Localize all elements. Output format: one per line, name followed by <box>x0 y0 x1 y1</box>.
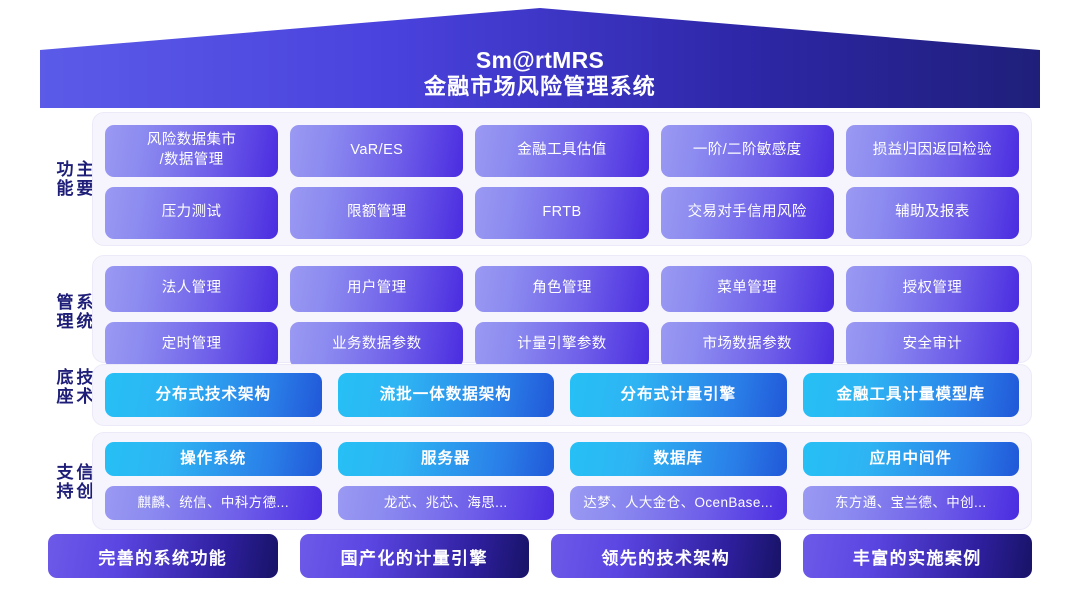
cell-counterparty-credit-risk[interactable]: 交易对手信用风险 <box>661 187 834 239</box>
panel-main-functions: 风险数据集市 /数据管理 VaR/ES 金融工具估值 一阶/二阶敏感度 损益归因… <box>92 112 1032 246</box>
cell-instrument-valuation[interactable]: 金融工具估值 <box>475 125 648 177</box>
label-main-functions-col2: 功能 <box>53 160 72 198</box>
highlight-rich-implementation-cases[interactable]: 丰富的实施案例 <box>803 534 1033 578</box>
cell-server-vendors[interactable]: 龙芯、兆芯、海思... <box>338 486 555 520</box>
cell-market-data-params[interactable]: 市场数据参数 <box>661 322 834 368</box>
cell-operating-system[interactable]: 操作系统 <box>105 442 322 476</box>
roof-banner: Sm@rtMRS 金融市场风险管理系统 <box>40 8 1040 108</box>
cell-database-vendors[interactable]: 达梦、人大金仓、OcenBase... <box>570 486 787 520</box>
cell-risk-data-mart[interactable]: 风险数据集市 /数据管理 <box>105 125 278 177</box>
cell-risk-data-mart-line2: /数据管理 <box>160 152 224 168</box>
label-tech-foundation-col1: 技术 <box>74 368 93 406</box>
grid-tech-foundation: 分布式技术架构 流批一体数据架构 分布式计量引擎 金融工具计量模型库 <box>105 373 1019 417</box>
cell-middleware-vendors[interactable]: 东方通、宝兰德、中创... <box>803 486 1020 520</box>
cell-engine-params[interactable]: 计量引擎参数 <box>475 322 648 368</box>
panel-tech-foundation: 分布式技术架构 流批一体数据架构 分布式计量引擎 金融工具计量模型库 <box>92 364 1032 426</box>
cell-var-es[interactable]: VaR/ES <box>290 125 463 177</box>
highlight-complete-system-functions[interactable]: 完善的系统功能 <box>48 534 278 578</box>
label-xinchuang-support-col2: 支持 <box>53 463 72 501</box>
cell-legal-entity-management[interactable]: 法人管理 <box>105 266 278 312</box>
cell-sensitivity[interactable]: 一阶/二阶敏感度 <box>661 125 834 177</box>
cell-authorization-management[interactable]: 授权管理 <box>846 266 1019 312</box>
bottom-highlight-bar: 完善的系统功能 国产化的计量引擎 领先的技术架构 丰富的实施案例 <box>48 534 1032 578</box>
cell-database[interactable]: 数据库 <box>570 442 787 476</box>
label-main-functions: 主要 功能 <box>52 116 94 242</box>
cell-distributed-pricing-engine[interactable]: 分布式计量引擎 <box>570 373 787 417</box>
grid-system-management: 法人管理 用户管理 角色管理 菜单管理 授权管理 定时管理 业务数据参数 计量引… <box>105 266 1019 368</box>
cell-user-management[interactable]: 用户管理 <box>290 266 463 312</box>
cell-stress-testing[interactable]: 压力测试 <box>105 187 278 239</box>
panel-xinchuang-support: 操作系统 服务器 数据库 应用中间件 麒麟、统信、中科方德... 龙芯、兆芯、海… <box>92 432 1032 530</box>
cell-frtb[interactable]: FRTB <box>475 187 648 239</box>
highlight-leading-tech-architecture[interactable]: 领先的技术架构 <box>551 534 781 578</box>
roof-shape <box>40 8 1040 108</box>
label-system-management-col2: 管理 <box>53 293 72 331</box>
label-system-management-col1: 系统 <box>74 293 93 331</box>
cell-business-data-params[interactable]: 业务数据参数 <box>290 322 463 368</box>
cell-menu-management[interactable]: 菜单管理 <box>661 266 834 312</box>
cell-middleware[interactable]: 应用中间件 <box>803 442 1020 476</box>
cell-stream-batch-data-architecture[interactable]: 流批一体数据架构 <box>338 373 555 417</box>
cell-distributed-architecture[interactable]: 分布式技术架构 <box>105 373 322 417</box>
label-system-management: 系统 管理 <box>52 259 94 365</box>
label-xinchuang-support-col1: 信创 <box>74 463 93 501</box>
architecture-diagram: Sm@rtMRS 金融市场风险管理系统 主要 功能 风险数据集市 /数据管理 V… <box>0 0 1080 604</box>
label-tech-foundation: 技术 底座 <box>52 356 94 418</box>
label-tech-foundation-col2: 底座 <box>53 368 72 406</box>
cell-security-audit[interactable]: 安全审计 <box>846 322 1019 368</box>
grid-xinchuang-support: 操作系统 服务器 数据库 应用中间件 麒麟、统信、中科方德... 龙芯、兆芯、海… <box>105 442 1019 520</box>
cell-role-management[interactable]: 角色管理 <box>475 266 648 312</box>
cell-server[interactable]: 服务器 <box>338 442 555 476</box>
cell-limit-management[interactable]: 限额管理 <box>290 187 463 239</box>
cell-instrument-model-library[interactable]: 金融工具计量模型库 <box>803 373 1020 417</box>
panel-system-management: 法人管理 用户管理 角色管理 菜单管理 授权管理 定时管理 业务数据参数 计量引… <box>92 255 1032 363</box>
highlight-domestic-pricing-engine[interactable]: 国产化的计量引擎 <box>300 534 530 578</box>
cell-schedule-management[interactable]: 定时管理 <box>105 322 278 368</box>
grid-main-functions: 风险数据集市 /数据管理 VaR/ES 金融工具估值 一阶/二阶敏感度 损益归因… <box>105 125 1019 239</box>
label-xinchuang-support: 信创 支持 <box>52 434 94 530</box>
cell-auxiliary-reports[interactable]: 辅助及报表 <box>846 187 1019 239</box>
cell-risk-data-mart-label: 风险数据集市 /数据管理 <box>147 131 236 170</box>
cell-os-vendors[interactable]: 麒麟、统信、中科方德... <box>105 486 322 520</box>
label-main-functions-col1: 主要 <box>74 160 93 198</box>
cell-pnl-attribution-backtest[interactable]: 损益归因返回检验 <box>846 125 1019 177</box>
cell-risk-data-mart-line1: 风险数据集市 <box>147 132 236 148</box>
